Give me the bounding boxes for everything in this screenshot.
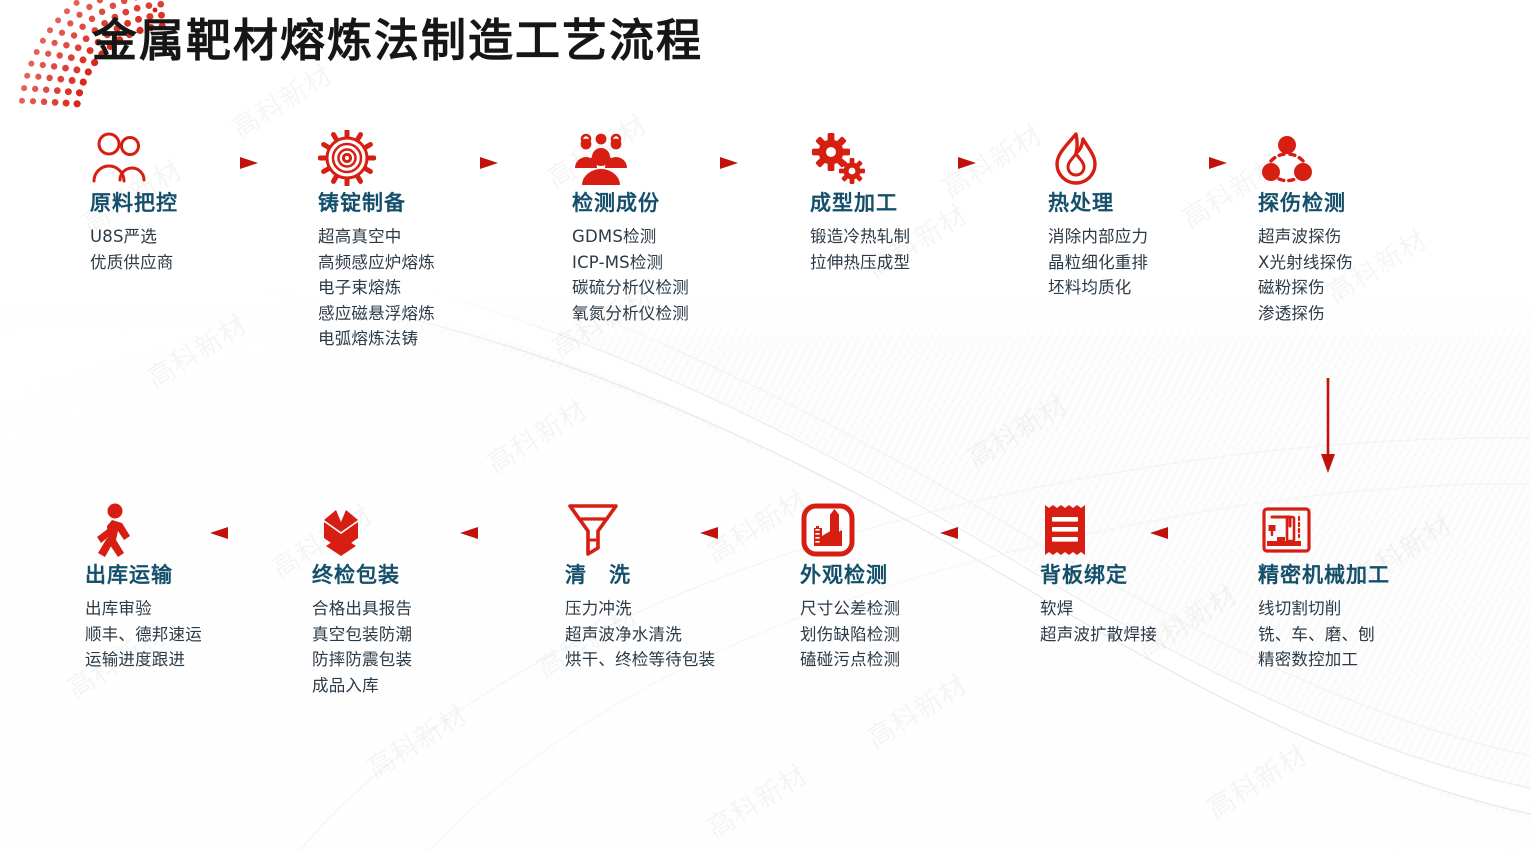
flow-arrow-right [200, 155, 258, 171]
step-detail-item: 氧氮分析仪检测 [572, 301, 787, 327]
step-title: 出库运输 [85, 564, 300, 587]
step-detail-item: 压力冲洗 [565, 596, 780, 622]
flow-step-backplate-bonding[interactable]: 背板绑定软焊超声波扩散焊接 [1040, 500, 1255, 647]
cnc-machine-icon [1258, 500, 1473, 558]
step-detail-item: 超声波探伤 [1258, 224, 1473, 250]
step-detail-list: 合格出具报告真空包装防潮防摔防震包装成品入库 [312, 596, 527, 698]
step-detail-item: 超声波扩散焊接 [1040, 622, 1255, 648]
step-detail-list: 压力冲洗超声波净水清洗烘干、终检等待包装 [565, 596, 780, 673]
flow-arrow-right [440, 155, 498, 171]
step-detail-item: 防摔防震包装 [312, 647, 527, 673]
step-detail-item: U8S严选 [90, 224, 305, 250]
flow-arrow-right [680, 155, 738, 171]
step-detail-item: 真空包装防潮 [312, 622, 527, 648]
step-detail-item: 出库审验 [85, 596, 300, 622]
step-detail-item: 高频感应炉熔炼 [318, 250, 533, 276]
flow-arrow-left [210, 525, 285, 541]
step-detail-list: 超高真空中高频感应炉熔炼电子束熔炼感应磁悬浮熔炼电弧熔炼法铸 [318, 224, 533, 352]
watermark-text: 高科新材 [958, 383, 1074, 475]
step-detail-item: 烘干、终检等待包装 [565, 647, 780, 673]
watermark-text: 高科新材 [358, 693, 474, 785]
watermark-text: 高科新材 [858, 663, 974, 755]
watermark-text: 高科新材 [138, 303, 254, 395]
infographic-page: 高科新材高科新材高科新材高科新材高科新材高科新材高科新材高科新材高科新材高科新材… [0, 0, 1531, 850]
step-detail-item: 合格出具报告 [312, 596, 527, 622]
watermark-text: 高科新材 [1198, 733, 1314, 825]
step-detail-item: 电子束熔炼 [318, 275, 533, 301]
step-detail-item: 尺寸公差检测 [800, 596, 1015, 622]
step-detail-item: X光射线探伤 [1258, 250, 1473, 276]
step-detail-item: 晶粒细化重排 [1048, 250, 1263, 276]
step-detail-item: GDMS检测 [572, 224, 787, 250]
step-title: 检测成份 [572, 192, 787, 215]
flow-step-raw-material-control[interactable]: 原料把控U8S严选优质供应商 [90, 128, 305, 275]
step-detail-list: 线切割切削铣、车、磨、刨精密数控加工 [1258, 596, 1473, 673]
step-title: 精密机械加工 [1258, 564, 1473, 587]
step-detail-list: 软焊超声波扩散焊接 [1040, 596, 1255, 647]
step-title: 背板绑定 [1040, 564, 1255, 587]
flow-step-flaw-detection[interactable]: 探伤检测超声波探伤X光射线探伤磁粉探伤渗透探伤 [1258, 128, 1473, 326]
step-title: 清 洗 [565, 564, 780, 587]
step-detail-list: 尺寸公差检测划伤缺陷检测磕碰污点检测 [800, 596, 1015, 673]
step-detail-item: 碳硫分析仪检测 [572, 275, 787, 301]
step-detail-item: 运输进度跟进 [85, 647, 300, 673]
watermark-text: 高科新材 [698, 753, 814, 845]
step-detail-item: ICP-MS检测 [572, 250, 787, 276]
step-detail-item: 超高真空中 [318, 224, 533, 250]
step-title: 外观检测 [800, 564, 1015, 587]
two-people-icon [90, 128, 305, 186]
step-title: 铸锭制备 [318, 192, 533, 215]
step-detail-list: 消除内部应力晶粒细化重排坯料均质化 [1048, 224, 1263, 301]
flow-arrow-left [1150, 525, 1230, 541]
step-detail-item: 划伤缺陷检测 [800, 622, 1015, 648]
step-detail-item: 拉伸热压成型 [810, 250, 1025, 276]
gear-rings-icon [318, 128, 533, 186]
step-title: 探伤检测 [1258, 192, 1473, 215]
step-detail-item: 软焊 [1040, 596, 1255, 622]
flow-arrow-left [460, 525, 535, 541]
step-detail-list: GDMS检测ICP-MS检测碳硫分析仪检测氧氮分析仪检测 [572, 224, 787, 326]
flow-step-forming-processing[interactable]: 成型加工锻造冷热轧制拉伸热压成型 [810, 128, 1025, 275]
step-detail-item: 磁粉探伤 [1258, 275, 1473, 301]
step-title: 热处理 [1048, 192, 1263, 215]
flow-step-precision-machining[interactable]: 精密机械加工线切割切削铣、车、磨、刨精密数控加工 [1258, 500, 1473, 673]
flow-arrow-left [940, 525, 1015, 541]
flow-arrow-right [918, 155, 976, 171]
step-detail-item: 成品入库 [312, 673, 527, 699]
flow-arrow-left [700, 525, 775, 541]
flow-step-ingot-preparation[interactable]: 铸锭制备超高真空中高频感应炉熔炼电子束熔炼感应磁悬浮熔炼电弧熔炼法铸 [318, 128, 533, 352]
step-detail-list: 出库审验顺丰、德邦速运运输进度跟进 [85, 596, 300, 673]
step-detail-item: 感应磁悬浮熔炼 [318, 301, 533, 327]
step-title: 成型加工 [810, 192, 1025, 215]
step-detail-item: 铣、车、磨、刨 [1258, 622, 1473, 648]
step-detail-item: 优质供应商 [90, 250, 305, 276]
step-detail-item: 线切割切削 [1258, 596, 1473, 622]
step-detail-list: 超声波探伤X光射线探伤磁粉探伤渗透探伤 [1258, 224, 1473, 326]
step-title: 终检包装 [312, 564, 527, 587]
step-detail-item: 超声波净水清洗 [565, 622, 780, 648]
step-detail-item: 顺丰、德邦速运 [85, 622, 300, 648]
page-title: 金属靶材熔炼法制造工艺流程 [92, 4, 703, 69]
watermark-text: 高科新材 [478, 388, 594, 480]
step-detail-item: 磕碰污点检测 [800, 647, 1015, 673]
three-nodes-icon [1258, 128, 1473, 186]
flow-step-heat-treatment[interactable]: 热处理消除内部应力晶粒细化重排坯料均质化 [1048, 128, 1263, 301]
step-detail-item: 坯料均质化 [1048, 275, 1263, 301]
step-detail-list: U8S严选优质供应商 [90, 224, 305, 275]
step-detail-item: 锻造冷热轧制 [810, 224, 1025, 250]
flow-arrow-right [1155, 155, 1227, 171]
step-detail-item: 精密数控加工 [1258, 647, 1473, 673]
step-detail-item: 消除内部应力 [1048, 224, 1263, 250]
step-detail-item: 电弧熔炼法铸 [318, 326, 533, 352]
step-detail-list: 锻造冷热轧制拉伸热压成型 [810, 224, 1025, 275]
step-detail-item: 渗透探伤 [1258, 301, 1473, 327]
step-title: 原料把控 [90, 192, 305, 215]
flow-arrow-down [1320, 378, 1336, 473]
